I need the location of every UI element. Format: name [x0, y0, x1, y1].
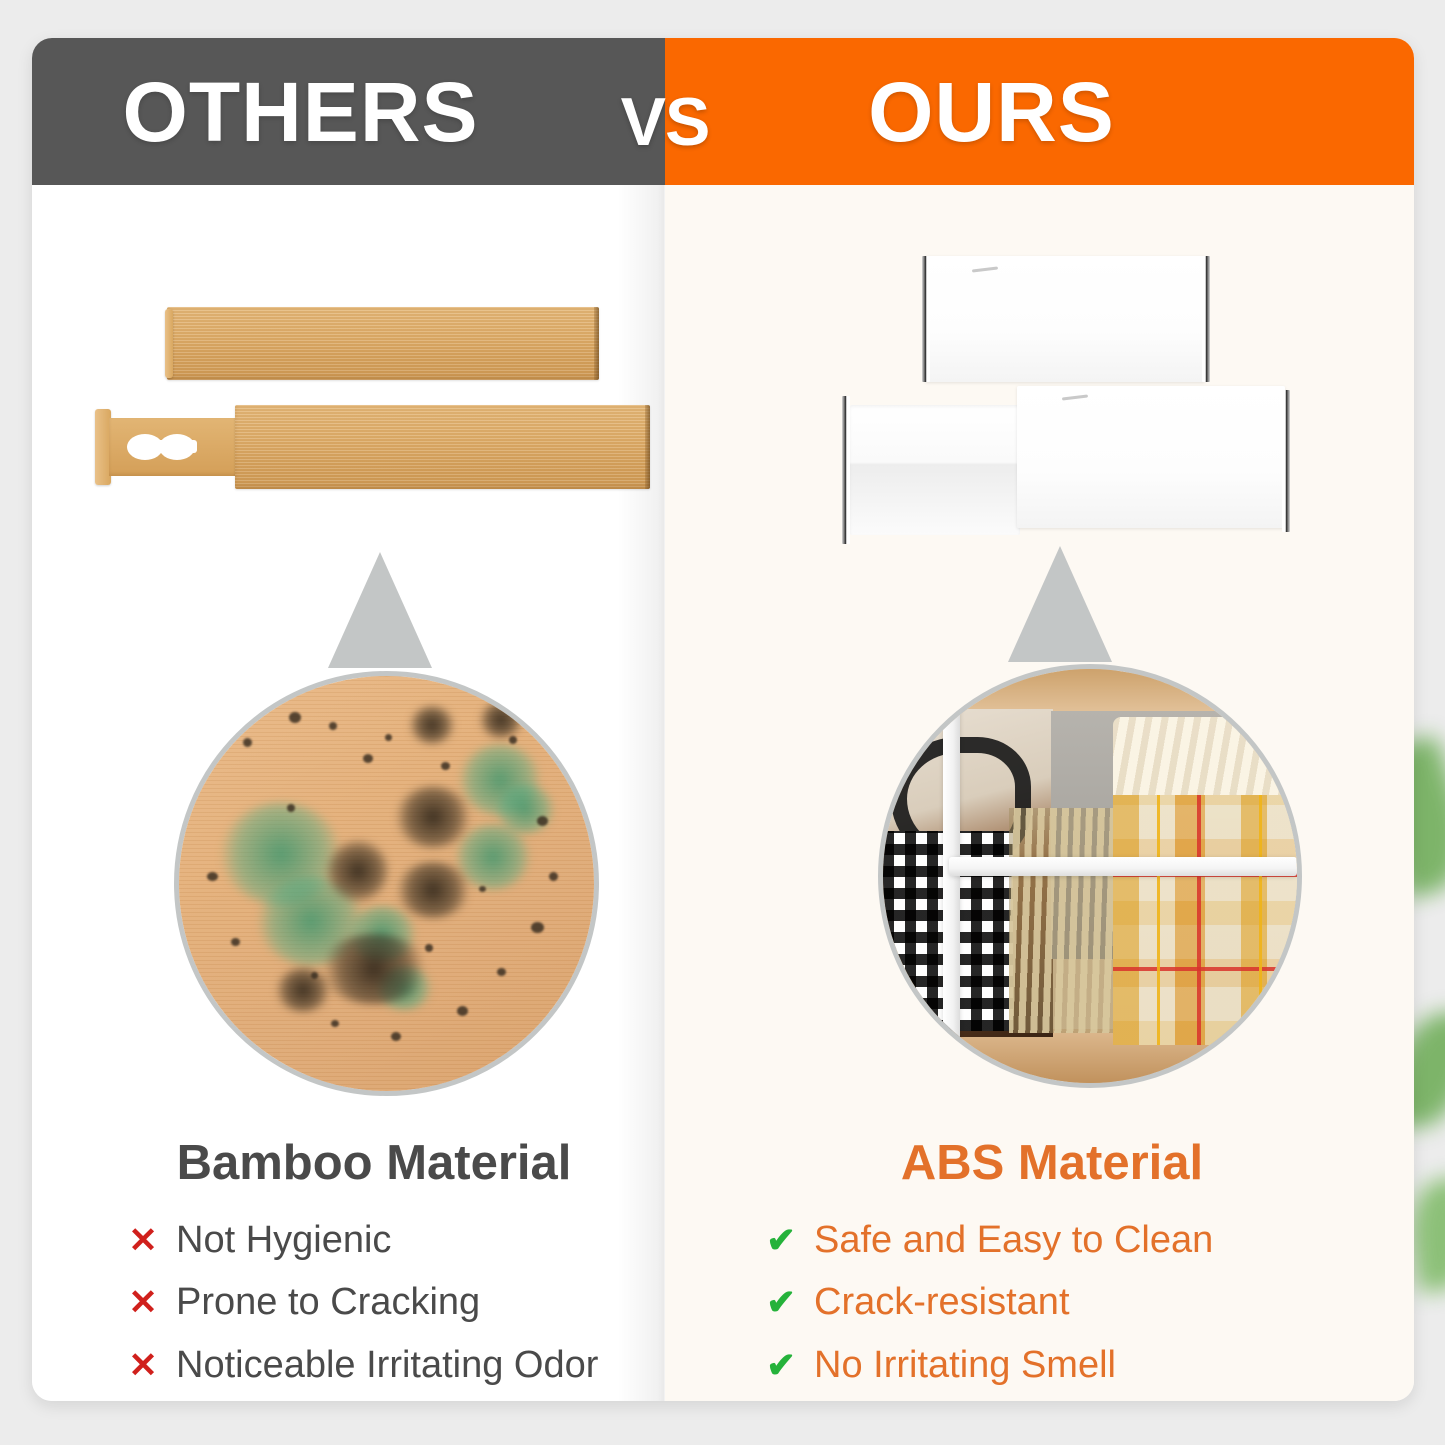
- list-item-label: Crack-resistant: [814, 1279, 1070, 1325]
- abs-material-title: ABS Material: [732, 1136, 1372, 1191]
- mold-speck: [363, 754, 373, 763]
- abs-product-photo: [32, 198, 1414, 498]
- mold-speck: [457, 1006, 468, 1016]
- abs-divider-edge: [842, 396, 850, 544]
- list-item: ✕ Not Hygienic: [94, 1217, 654, 1263]
- mold-speck: [479, 886, 486, 892]
- mold-speck: [287, 804, 295, 812]
- others-title: OTHERS: [122, 70, 574, 154]
- list-item-label: No Irritating Smell: [814, 1342, 1116, 1388]
- mold-speck: [391, 1032, 401, 1041]
- mold-speck: [537, 816, 548, 826]
- drawer-divider-horizontal: [949, 857, 1297, 876]
- list-item-label: Safe and Easy to Clean: [814, 1217, 1213, 1263]
- abs-divider-edge: [1202, 256, 1210, 382]
- black-mold-patch: [409, 706, 455, 744]
- black-mold-patch: [395, 862, 471, 918]
- plaid-stripe: [1113, 967, 1297, 971]
- mold-speck: [231, 938, 240, 946]
- check-icon: ✔: [766, 1285, 796, 1320]
- list-item: ✔ No Irritating Smell: [732, 1342, 1372, 1388]
- check-icon: ✔: [766, 1348, 796, 1383]
- ours-title: OURS: [868, 70, 1211, 154]
- comparison-header: OTHERS OURS: [32, 38, 1414, 185]
- bamboo-text-block: Bamboo Material ✕ Not Hygienic ✕ Prone t…: [94, 1136, 654, 1401]
- mold-speck: [289, 712, 301, 723]
- list-item-label: Noticeable Irritating Odor: [176, 1342, 598, 1388]
- bamboo-drawbacks-list: ✕ Not Hygienic ✕ Prone to Cracking ✕ Not…: [94, 1217, 654, 1388]
- abs-text-block: ABS Material ✔ Safe and Easy to Clean ✔ …: [732, 1136, 1372, 1401]
- vs-badge: VS: [621, 88, 710, 156]
- cross-icon: ✕: [128, 1285, 158, 1320]
- plaid-stripe: [1197, 795, 1201, 1045]
- list-item-label: Not Hygienic: [176, 1217, 391, 1263]
- mold-speck: [311, 972, 318, 979]
- plaid-blanket: [1113, 795, 1297, 1045]
- black-mold-patch: [319, 934, 429, 1004]
- mold-speck: [207, 872, 218, 881]
- cross-icon: ✕: [128, 1348, 158, 1383]
- check-icon: ✔: [766, 1223, 796, 1258]
- list-item: ✕ Prone to Cracking: [94, 1279, 654, 1325]
- plaid-stripe: [1157, 795, 1160, 1045]
- abs-divider-edge: [922, 256, 930, 382]
- mold-speck: [549, 872, 558, 881]
- mold-speck: [497, 968, 506, 976]
- mold-speck: [385, 734, 392, 741]
- mold-speck: [509, 736, 517, 744]
- mold-speck: [425, 944, 433, 952]
- list-item: ✕ Noticeable Irritating Odor: [94, 1342, 654, 1388]
- drawer-interior: [883, 669, 1297, 1083]
- drawer-divider-vertical: [943, 701, 960, 1071]
- list-item: ✔ Crack-resistant: [732, 1279, 1372, 1325]
- bamboo-material-title: Bamboo Material: [94, 1136, 654, 1191]
- black-mold-patch: [395, 786, 471, 848]
- mold-speck: [331, 1020, 339, 1027]
- comparison-card: OTHERS OURS VS: [32, 38, 1414, 1401]
- abs-divider-extended: [1017, 386, 1285, 528]
- mold-speck: [441, 762, 450, 770]
- black-mold-patch: [275, 968, 331, 1012]
- abs-divider-edge: [1282, 390, 1290, 532]
- cross-icon: ✕: [128, 1223, 158, 1258]
- ours-header: OURS: [665, 38, 1414, 185]
- organized-drawer-closeup: [878, 664, 1302, 1088]
- callout-pointer-right: [1008, 546, 1112, 662]
- knit-throw: [1009, 808, 1119, 1033]
- mold-speck: [329, 722, 337, 730]
- moldy-bamboo-closeup: [174, 671, 599, 1096]
- abs-telescoping-rail: [850, 405, 1020, 535]
- mold-speck: [531, 922, 544, 933]
- black-mold-patch: [479, 702, 523, 738]
- callout-pointer-left: [328, 552, 432, 668]
- plaid-stripe: [1259, 795, 1262, 1045]
- others-header: OTHERS: [32, 38, 665, 185]
- list-item-label: Prone to Cracking: [176, 1279, 480, 1325]
- green-mold-patch: [495, 784, 555, 834]
- abs-benefits-list: ✔ Safe and Easy to Clean ✔ Crack-resista…: [732, 1217, 1372, 1388]
- black-mold-patch: [327, 840, 389, 902]
- mold-speck: [243, 738, 252, 747]
- list-item: ✔ Safe and Easy to Clean: [732, 1217, 1372, 1263]
- abs-divider-closed: [925, 256, 1205, 382]
